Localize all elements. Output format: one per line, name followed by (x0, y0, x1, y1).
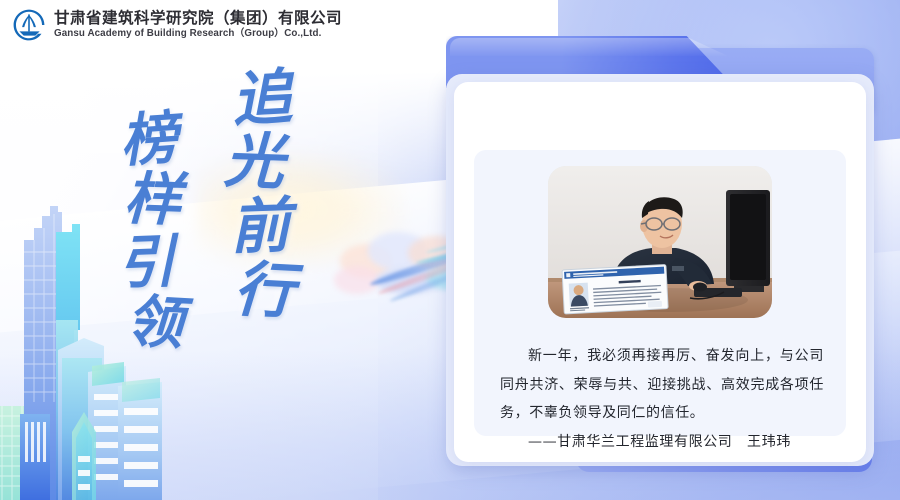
calligraphy-char: 前 (229, 199, 291, 256)
calligraphy-char: 榜 (118, 112, 179, 168)
employee-photo (548, 166, 772, 318)
calligraphy-char: 引 (117, 236, 176, 290)
card-sheet-white: 新一年，我必须再接再厉、奋发向上，与公司同舟共济、荣辱与共、迎接挑战、高效完成各… (454, 82, 866, 462)
calligraphy-char: 样 (123, 173, 182, 227)
brand-header: 甘肃省建筑科学研究院（集团）有限公司 Gansu Academy of Buil… (12, 8, 342, 42)
calligraphy-char: 追 (231, 70, 294, 128)
calligraphy-char: 光 (223, 134, 285, 191)
gansu-academy-circular-emblem-icon (12, 8, 46, 42)
calligraphy-column-right: 追 光 前 行 (228, 72, 288, 319)
card-inner-panel: 新一年，我必须再接再厉、奋发向上，与公司同舟共济、荣辱与共、迎接挑战、高效完成各… (474, 150, 846, 436)
calligraphy-char: 领 (125, 296, 185, 351)
quote-paragraph: 新一年，我必须再接再厉、奋发向上，与公司同舟共济、荣辱与共、迎接挑战、高效完成各… (500, 342, 824, 428)
folder-tab-highlight (450, 38, 728, 56)
quote-attribution: ——甘肃华兰工程监理有限公司 王玮玮 (500, 428, 824, 457)
testimonial-quote: 新一年，我必须再接再厉、奋发向上，与公司同舟共济、荣辱与共、迎接挑战、高效完成各… (500, 342, 824, 457)
calligraphy-char: 行 (233, 262, 296, 320)
testimonial-card-stack: 新一年，我必须再接再厉、奋发向上，与公司同舟共济、荣辱与共、迎接挑战、高效完成各… (446, 26, 874, 478)
company-name-cn: 甘肃省建筑科学研究院（集团）有限公司 (54, 9, 342, 28)
calligraphy-column-left: 榜 样 引 领 (118, 114, 175, 350)
calligraphy-slogan: 追 光 前 行 榜 样 引 领 (110, 72, 340, 412)
poster-canvas: 甘肃省建筑科学研究院（集团）有限公司 Gansu Academy of Buil… (0, 0, 900, 500)
company-name-en: Gansu Academy of Building Research（Group… (54, 28, 342, 41)
